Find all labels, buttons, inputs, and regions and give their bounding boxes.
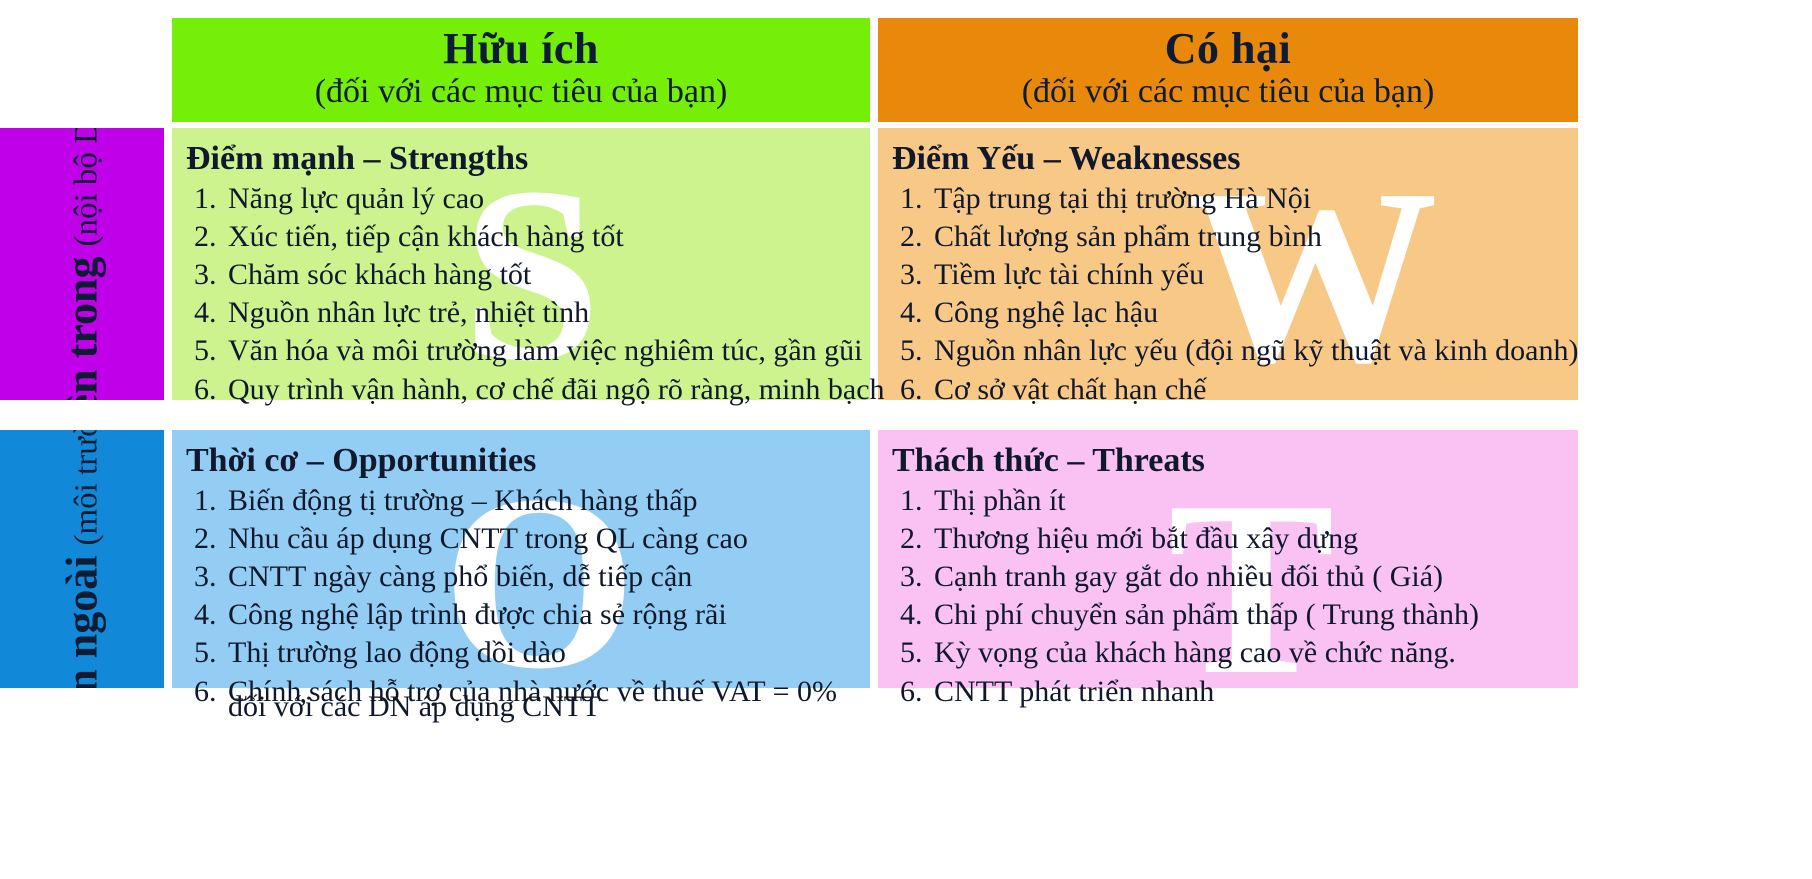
column-header-harmful-subtitle: (đối với các mục tiêu của bạn) (1022, 74, 1435, 110)
column-header-useful-title: Hữu ích (443, 26, 599, 72)
row-header-internal: Bên trong (nội bộ DN) (0, 128, 164, 400)
quadrant-threats-title: Thách thức – Threats (892, 442, 1564, 480)
list-item: Công nghệ lập trình được chia sẻ rộng rã… (224, 596, 856, 634)
list-item: Công nghệ lạc hậu (930, 294, 1564, 332)
list-item: Thị phần ít (930, 482, 1564, 520)
list-item: Nhu cầu áp dụng CNTT trong QL càng cao (224, 520, 856, 558)
quadrant-strengths-list: Năng lực quản lý cao Xúc tiến, tiếp cận … (186, 180, 856, 409)
quadrant-weaknesses-list: Tập trung tại thị trường Hà Nội Chất lượ… (892, 180, 1564, 409)
list-item: Thị trường lao động dồi dào (224, 634, 856, 672)
quadrant-opportunities-list: Biến động tị trường – Khách hàng thấp Nh… (186, 482, 856, 711)
list-item: Chăm sóc khách hàng tốt (224, 256, 856, 294)
list-item: Thương hiệu mới bắt đầu xây dựng (930, 520, 1564, 558)
list-item: Tiềm lực tài chính yếu (930, 256, 1564, 294)
list-item: Văn hóa và môi trường làm việc nghiêm tú… (224, 332, 856, 370)
list-item: Cạnh tranh gay gắt do nhiều đối thủ ( Gi… (930, 558, 1564, 596)
list-item: Nguồn nhân lực yếu (đội ngũ kỹ thuật và … (930, 332, 1564, 370)
list-item: Tập trung tại thị trường Hà Nội (930, 180, 1564, 218)
quadrant-opportunities: O Thời cơ – Opportunities Biến động tị t… (172, 430, 870, 688)
list-item: Năng lực quản lý cao (224, 180, 856, 218)
row-header-external-text: Bên ngoài (môi trường) (57, 430, 108, 688)
quadrant-strengths: S Điểm mạnh – Strengths Năng lực quản lý… (172, 128, 870, 400)
row-header-external-subtitle: (môi trường) (69, 430, 106, 546)
column-header-harmful: Có hại (đối với các mục tiêu của bạn) (878, 18, 1578, 122)
column-header-harmful-title: Có hại (1165, 26, 1291, 72)
list-item: Nguồn nhân lực trẻ, nhiệt tình (224, 294, 856, 332)
list-item: Kỳ vọng của khách hàng cao về chức năng. (930, 634, 1564, 672)
list-item: CNTT phát triển nhanh (930, 673, 1564, 711)
list-item: Biến động tị trường – Khách hàng thấp (224, 482, 856, 520)
list-item: Quy trình vận hành, cơ chế đãi ngộ rõ rà… (224, 371, 856, 409)
list-item: Chất lượng sản phẩm trung bình (930, 218, 1564, 256)
row-header-internal-title: Bên trong (57, 257, 108, 400)
row-header-external-title: Bên ngoài (57, 556, 108, 688)
quadrant-strengths-title: Điểm mạnh – Strengths (186, 140, 856, 178)
swot-matrix: Hữu ích (đối với các mục tiêu của bạn) C… (0, 0, 1812, 879)
list-item: Chi phí chuyển sản phẩm thấp ( Trung thà… (930, 596, 1564, 634)
row-header-internal-subtitle: (nội bộ DN) (69, 128, 106, 247)
quadrant-opportunities-title: Thời cơ – Opportunities (186, 442, 856, 480)
quadrant-threats-list: Thị phần ít Thương hiệu mới bắt đầu xây … (892, 482, 1564, 711)
list-item: Xúc tiến, tiếp cận khách hàng tốt (224, 218, 856, 256)
column-header-useful: Hữu ích (đối với các mục tiêu của bạn) (172, 18, 870, 122)
list-item: Cơ sở vật chất hạn chế (930, 371, 1564, 409)
column-header-useful-subtitle: (đối với các mục tiêu của bạn) (315, 74, 728, 110)
list-item: CNTT ngày càng phổ biến, dễ tiếp cận (224, 558, 856, 596)
quadrant-weaknesses: W Điểm Yếu – Weaknesses Tập trung tại th… (878, 128, 1578, 400)
row-header-external: Bên ngoài (môi trường) (0, 430, 164, 688)
quadrant-opportunities-overflow-line: đối với các DN áp dụng CNTT (172, 688, 870, 726)
quadrant-weaknesses-title: Điểm Yếu – Weaknesses (892, 140, 1564, 178)
quadrant-threats: T Thách thức – Threats Thị phần ít Thươn… (878, 430, 1578, 688)
row-header-internal-text: Bên trong (nội bộ DN) (57, 128, 108, 400)
